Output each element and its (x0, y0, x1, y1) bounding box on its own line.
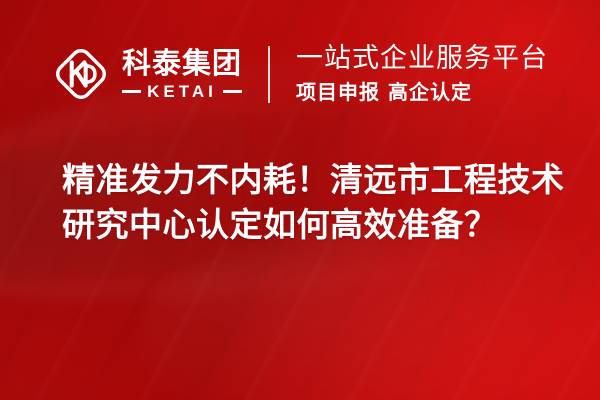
headline: 精准发力不内耗！清远市工程技术 研究中心认定如何高效准备？ (62, 157, 560, 247)
headline-line-2: 研究中心认定如何高效准备？ (62, 202, 560, 247)
brand-rule-left (122, 90, 141, 93)
tagline-block: 一站式企业服务平台 项目申报 高企认定 (270, 44, 548, 103)
brand-wordmark: 科泰集团 KETAI (122, 49, 242, 100)
tagline-main: 一站式企业服务平台 (296, 44, 548, 74)
promo-banner: 科泰集团 KETAI 一站式企业服务平台 项目申报 高企认定 精准发力不内耗！清… (0, 0, 600, 400)
banner-header: 科泰集团 KETAI 一站式企业服务平台 项目申报 高企认定 (0, 34, 600, 114)
brand-rule-right (223, 90, 242, 93)
tagline-sub: 项目申报 高企认定 (296, 80, 548, 104)
ketai-diamond-monogram-icon (52, 45, 110, 103)
brand-name-en-row: KETAI (122, 83, 242, 100)
headline-line-1: 精准发力不内耗！清远市工程技术 (62, 157, 560, 202)
brand-lockup: 科泰集团 KETAI (52, 45, 268, 103)
brand-name-cn: 科泰集团 (122, 49, 242, 78)
brand-name-en: KETAI (147, 83, 217, 100)
